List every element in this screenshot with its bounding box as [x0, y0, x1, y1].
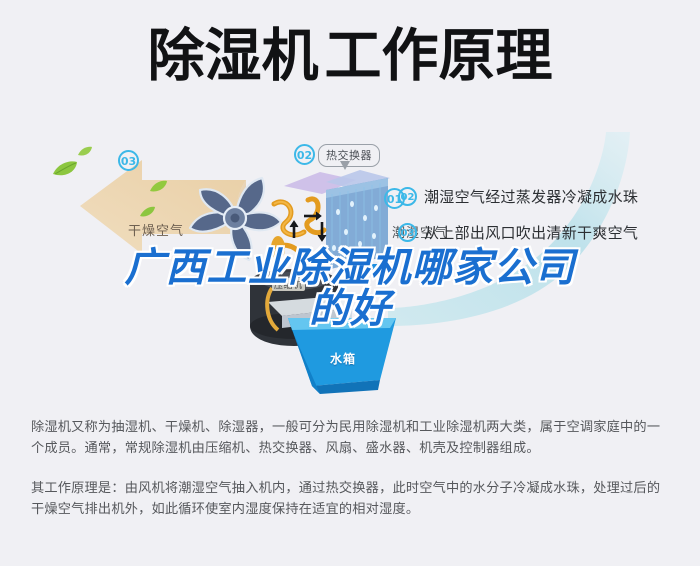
- body-copy: 除湿机又称为抽湿机、干燥机、除湿器，一般可分为民用除湿机和工业除湿机两大类，属于…: [31, 417, 671, 520]
- legend-badge-02: 02: [398, 187, 417, 206]
- callout-tail-icon: [340, 161, 350, 170]
- legend-text-02: 潮湿空气经过蒸发器冷凝成水珠: [424, 186, 638, 207]
- water-tank-label: 水箱: [330, 350, 356, 367]
- leaf-icon: [140, 206, 155, 218]
- page-title-part-b: 工作原理: [325, 23, 553, 89]
- badge-02-diagram: 02: [294, 144, 315, 165]
- body-paragraph-2: 其工作原理是：由风机将潮湿空气抽入机内，通过热交换器，此时空气中的水分子冷凝成水…: [31, 478, 671, 520]
- badge-03-diagram: 03: [118, 150, 139, 171]
- page-title-part-a: 除湿机: [148, 23, 319, 89]
- legend-item: 03 从上部出风口吹出清新干爽空气: [398, 214, 698, 250]
- legend-item: 02 潮湿空气经过蒸发器冷凝成水珠: [398, 178, 698, 214]
- page-root: 除湿机工作原理 干燥空气: [0, 0, 700, 566]
- leaf-icon: [78, 146, 92, 157]
- leaf-icon: [52, 160, 78, 178]
- compressor-label: 压缩机: [272, 278, 305, 291]
- legend-badge-03: 03: [398, 223, 417, 242]
- legend-text-03: 从上部出风口吹出清新干爽空气: [424, 222, 638, 243]
- legend-list: 02 潮湿空气经过蒸发器冷凝成水珠 03 从上部出风口吹出清新干爽空气: [398, 178, 698, 250]
- leaf-icon: [150, 180, 167, 193]
- page-title: 除湿机工作原理: [0, 28, 700, 85]
- body-paragraph-1: 除湿机又称为抽湿机、干燥机、除湿器，一般可分为民用除湿机和工业除湿机两大类，属于…: [31, 417, 671, 459]
- dehumidifier-diagram: 干燥空气: [0, 128, 700, 396]
